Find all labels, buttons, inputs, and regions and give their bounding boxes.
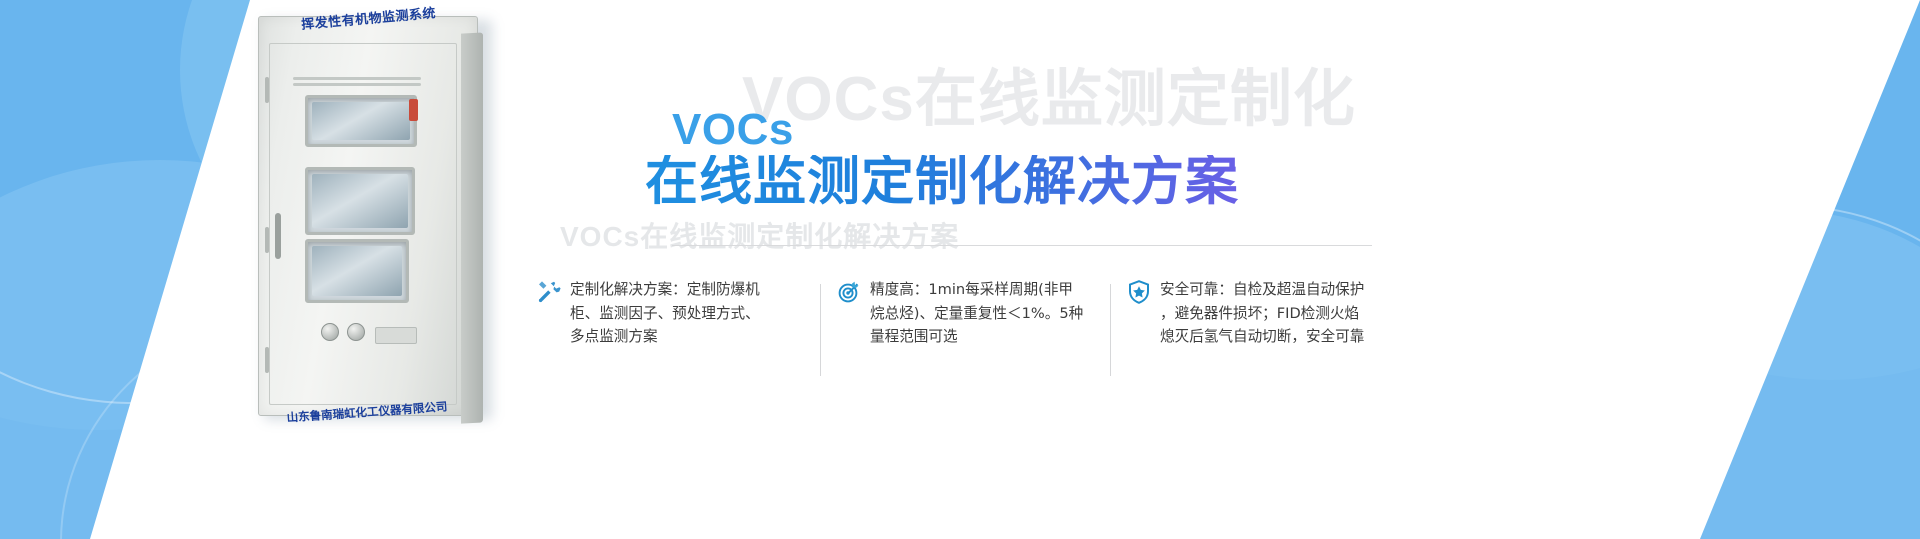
cabinet-vent xyxy=(293,83,421,86)
cabinet-handle xyxy=(275,213,281,259)
feature-text: 定制化解决方案：定制防爆机 柜、监测因子、预处理方式、 多点监测方案 xyxy=(570,278,760,349)
cabinet-side-panel xyxy=(461,32,483,423)
cabinet-hinge xyxy=(265,77,269,103)
feature-item-precision: 精度高：1min每采样周期(非甲 烷总烃)、定量重复性＜1%。5种 量程范围可选 xyxy=(820,278,1110,388)
shield-star-safety-icon xyxy=(1126,279,1152,305)
analyzer-cabinet xyxy=(258,16,478,416)
instrument-display-bottom xyxy=(305,239,409,303)
feature-line: ，避免器件损坏；FID检测火焰 xyxy=(1160,302,1364,326)
cabinet-hinge xyxy=(265,347,269,373)
feature-list: 定制化解决方案：定制防爆机 柜、监测因子、预处理方式、 多点监测方案 xyxy=(520,278,1440,388)
headline-subtitle: VOCs xyxy=(672,108,794,152)
ghost-headline-top: VOCs在线监测定制化 xyxy=(742,48,1356,138)
feature-line: 柜、监测因子、预处理方式、 xyxy=(570,302,760,326)
feature-divider xyxy=(820,284,821,376)
feature-line: 定制化解决方案：定制防爆机 xyxy=(570,278,760,302)
cabinet-vent xyxy=(293,77,421,80)
target-precision-icon xyxy=(836,279,862,305)
instrument-display-top xyxy=(305,95,417,147)
feature-text: 精度高：1min每采样周期(非甲 烷总烃)、定量重复性＜1%。5种 量程范围可选 xyxy=(870,278,1083,349)
feature-line: 量程范围可选 xyxy=(870,325,1083,349)
control-knob xyxy=(321,323,339,341)
cabinet-hinge xyxy=(265,227,269,253)
feature-item-customization: 定制化解决方案：定制防爆机 柜、监测因子、预处理方式、 多点监测方案 xyxy=(520,278,820,388)
feature-line: 熄灭后氢气自动切断，安全可靠 xyxy=(1160,325,1364,349)
promo-banner: 挥发性有机物监测系统 山东鲁南瑞虹化工仪器有限公司 VOCs在线监测定制化 VO… xyxy=(0,0,1920,539)
feature-divider xyxy=(1110,284,1111,376)
feature-item-safety: 安全可靠：自检及超温自动保护 ，避免器件损坏；FID检测火焰 熄灭后氢气自动切断… xyxy=(1110,278,1440,388)
ghost-headline-bottom: VOCs在线监测定制化解决方案 xyxy=(560,215,959,255)
headline-title: 在线监测定制化解决方案 xyxy=(645,155,1239,208)
feature-text: 安全可靠：自检及超温自动保护 ，避免器件损坏；FID检测火焰 熄灭后氢气自动切断… xyxy=(1160,278,1364,349)
tools-wrench-screwdriver-icon xyxy=(536,279,562,305)
product-photo: 挥发性有机物监测系统 山东鲁南瑞虹化工仪器有限公司 xyxy=(258,6,498,426)
feature-line: 多点监测方案 xyxy=(570,325,760,349)
cabinet-nameplate xyxy=(375,327,417,344)
instrument-display-middle xyxy=(305,167,415,235)
status-indicator-light xyxy=(409,99,418,121)
feature-line: 安全可靠：自检及超温自动保护 xyxy=(1160,278,1364,302)
headline-divider xyxy=(672,245,1372,246)
feature-line: 烷总烃)、定量重复性＜1%。5种 xyxy=(870,302,1083,326)
feature-line: 精度高：1min每采样周期(非甲 xyxy=(870,278,1083,302)
control-knob xyxy=(347,323,365,341)
